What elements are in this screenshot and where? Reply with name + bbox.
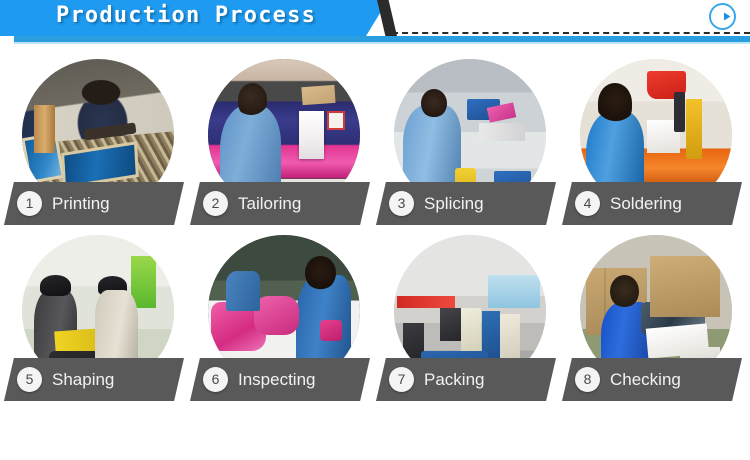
step-number-badge: 4 [575, 191, 600, 216]
step-number-badge: 1 [17, 191, 42, 216]
step-label-text: Checking [610, 367, 734, 392]
page-title: Production Process [56, 3, 316, 28]
process-step-3[interactable]: 3 Splicing [372, 55, 560, 230]
step-label-text: Tailoring [238, 191, 362, 216]
step-label-text: Inspecting [238, 367, 362, 392]
step-label-text: Printing [52, 191, 176, 216]
process-step-8[interactable]: 8 Checking [558, 231, 746, 406]
process-step-5[interactable]: 5 Shaping [0, 231, 188, 406]
header-wedge-shape [377, 0, 397, 36]
process-step-7[interactable]: 7 Packing [372, 231, 560, 406]
process-step-2[interactable]: 2 Tailoring [186, 55, 374, 230]
step-label-text: Packing [424, 367, 548, 392]
process-step-1[interactable]: 1 Printing [0, 55, 188, 230]
arrow-right-circle-icon[interactable] [709, 3, 736, 30]
step-label-text: Splicing [424, 191, 548, 216]
header-underbar-shadow [14, 42, 750, 44]
process-step-4[interactable]: 4 Soldering [558, 55, 746, 230]
step-number-badge: 6 [203, 367, 228, 392]
step-label-text: Shaping [52, 367, 176, 392]
header-dashed-rule [392, 32, 750, 34]
step-number-badge: 5 [17, 367, 42, 392]
page-header: Production Process [0, 0, 750, 48]
step-number-badge: 8 [575, 367, 600, 392]
step-number-badge: 3 [389, 191, 414, 216]
process-step-6[interactable]: 6 Inspecting [186, 231, 374, 406]
step-number-badge: 2 [203, 191, 228, 216]
production-process-page: Production Process 1 Printing 2 Tailorin… [0, 0, 750, 460]
step-label-text: Soldering [610, 191, 734, 216]
step-number-badge: 7 [389, 367, 414, 392]
